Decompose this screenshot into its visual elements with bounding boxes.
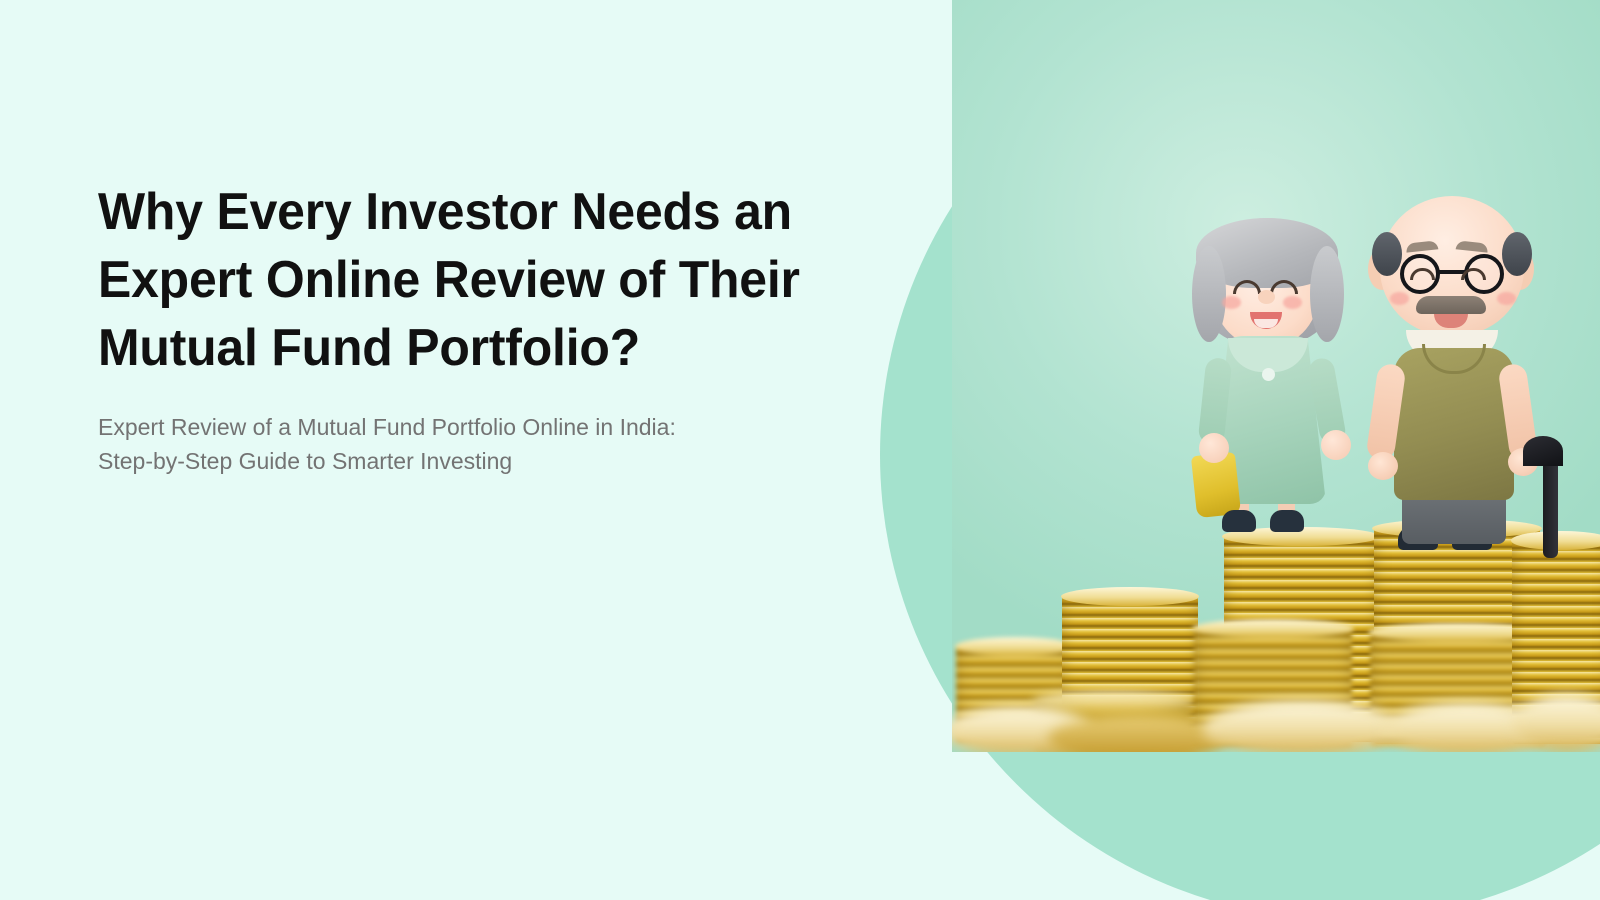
grandfather-cane <box>1543 442 1558 558</box>
page-subtitle: Expert Review of a Mutual Fund Portfolio… <box>98 382 858 478</box>
grandfather-hand-left <box>1368 452 1398 480</box>
grandfather-cheek-right <box>1497 292 1516 305</box>
grandmother-hand-left <box>1199 433 1229 463</box>
glasses-bridge <box>1439 270 1465 274</box>
grandmother-dress-button <box>1262 368 1275 381</box>
grandmother-hair-side-left <box>1192 246 1226 342</box>
page-title: Why Every Investor Needs an Expert Onlin… <box>98 178 828 382</box>
text-content-block: Why Every Investor Needs an Expert Onlin… <box>98 178 858 478</box>
grandfather-vest <box>1394 348 1514 500</box>
grandfather-hair-right <box>1502 232 1532 276</box>
grandfather-mustache <box>1416 296 1486 314</box>
figurine-grandfather <box>1356 196 1542 546</box>
slide-canvas: Why Every Investor Needs an Expert Onlin… <box>0 0 1600 900</box>
grandfather-cheek-left <box>1390 292 1409 305</box>
hero-photo <box>952 0 1600 752</box>
grandmother-nose <box>1258 290 1275 304</box>
grandfather-hair-left <box>1372 232 1402 276</box>
figurine-grandmother <box>1188 218 1348 538</box>
grandmother-hair-side-right <box>1310 246 1344 342</box>
grandmother-cheek-right <box>1283 296 1302 309</box>
grandmother-shoe-right <box>1270 510 1304 532</box>
grandmother-shoe-left <box>1222 510 1256 532</box>
coin-blob-3 <box>1202 700 1402 752</box>
grandmother-cheek-left <box>1222 296 1241 309</box>
grandmother-hand-right <box>1321 430 1351 460</box>
